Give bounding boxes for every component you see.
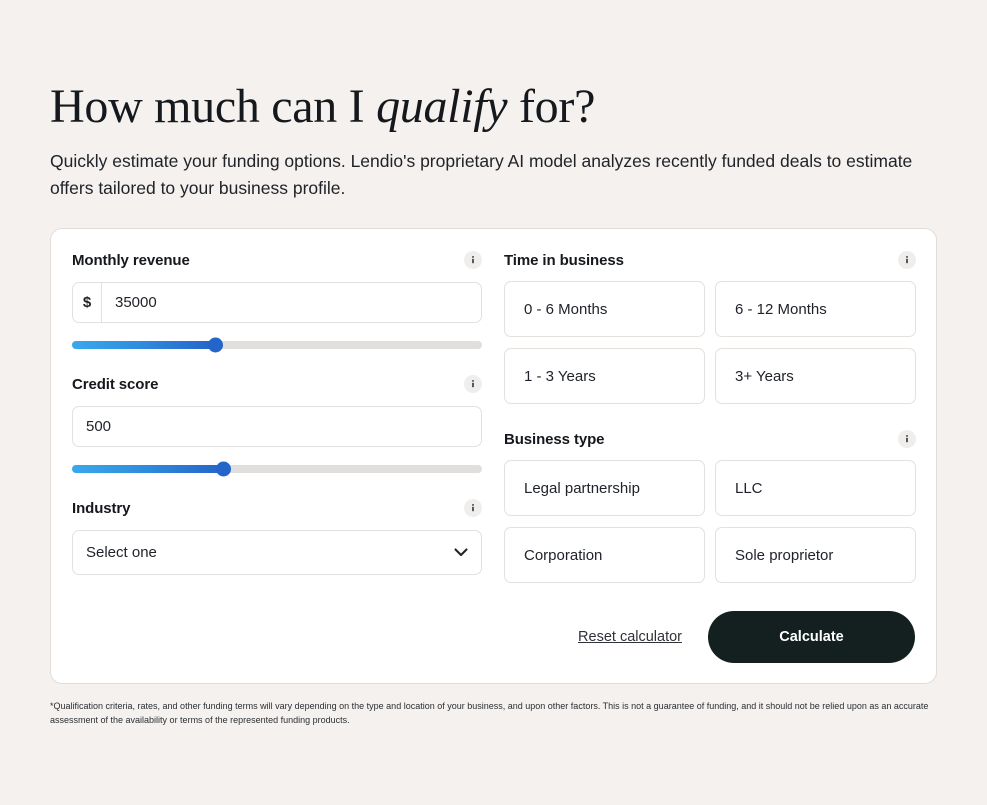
option-business-sole-proprietor[interactable]: Sole proprietor [715, 527, 916, 583]
business-type-label: Business type [504, 431, 604, 448]
credit-score-label-row: Credit score [72, 373, 482, 395]
field-industry: Industry Select one [72, 497, 482, 575]
monthly-revenue-input-wrap[interactable]: $ [72, 282, 482, 323]
info-icon[interactable] [464, 375, 482, 393]
page-subtitle: Quickly estimate your funding options. L… [50, 148, 950, 202]
credit-score-slider[interactable] [72, 465, 482, 473]
field-time-in-business: Time in business 0 - 6 Months 6 - 12 Mon… [504, 249, 916, 404]
monthly-revenue-slider[interactable] [72, 341, 482, 349]
credit-score-input-wrap[interactable] [72, 406, 482, 447]
option-business-llc[interactable]: LLC [715, 460, 916, 516]
calculator-card: Monthly revenue $ [50, 228, 937, 684]
option-time-6-12-months[interactable]: 6 - 12 Months [715, 281, 916, 337]
info-icon[interactable] [898, 430, 916, 448]
chevron-down-icon[interactable] [454, 544, 468, 562]
page-title: How much can I qualify for? [50, 78, 595, 136]
credit-score-slider-fill [72, 465, 224, 473]
business-type-label-row: Business type [504, 428, 916, 450]
reset-calculator-button[interactable]: Reset calculator [578, 629, 682, 645]
business-type-options: Legal partnership LLC Corporation Sole p… [504, 460, 916, 583]
industry-label-row: Industry [72, 497, 482, 519]
calculator-actions: Reset calculator Calculate [578, 611, 915, 663]
field-credit-score: Credit score [72, 373, 482, 473]
credit-score-input[interactable] [73, 407, 481, 446]
field-monthly-revenue: Monthly revenue $ [72, 249, 482, 349]
page-title-emphasis: qualify [376, 80, 507, 133]
qualify-calculator-page: How much can I qualify for? Quickly esti… [0, 0, 987, 805]
time-in-business-options: 0 - 6 Months 6 - 12 Months 1 - 3 Years 3… [504, 281, 916, 404]
field-business-type: Business type Legal partnership LLC Corp… [504, 428, 916, 583]
monthly-revenue-slider-thumb[interactable] [208, 338, 223, 353]
currency-prefix: $ [73, 283, 102, 322]
option-time-3-plus-years[interactable]: 3+ Years [715, 348, 916, 404]
disclaimer-text: *Qualification criteria, rates, and othe… [50, 699, 940, 727]
page-title-after: for? [507, 80, 595, 133]
industry-select[interactable]: Select one [72, 530, 482, 575]
calculator-right-column: Time in business 0 - 6 Months 6 - 12 Mon… [504, 249, 916, 583]
option-time-0-6-months[interactable]: 0 - 6 Months [504, 281, 705, 337]
calculator-left-column: Monthly revenue $ [72, 249, 482, 575]
industry-selected-value: Select one [73, 544, 157, 561]
info-icon[interactable] [464, 499, 482, 517]
credit-score-slider-thumb[interactable] [216, 462, 231, 477]
monthly-revenue-input[interactable] [102, 283, 481, 322]
credit-score-label: Credit score [72, 376, 158, 393]
monthly-revenue-label: Monthly revenue [72, 252, 190, 269]
page-title-before: How much can I [50, 80, 376, 133]
monthly-revenue-label-row: Monthly revenue [72, 249, 482, 271]
info-icon[interactable] [464, 251, 482, 269]
time-in-business-label-row: Time in business [504, 249, 916, 271]
option-business-corporation[interactable]: Corporation [504, 527, 705, 583]
monthly-revenue-slider-fill [72, 341, 216, 349]
calculate-button[interactable]: Calculate [708, 611, 915, 663]
industry-label: Industry [72, 500, 130, 517]
option-business-legal-partnership[interactable]: Legal partnership [504, 460, 705, 516]
info-icon[interactable] [898, 251, 916, 269]
time-in-business-label: Time in business [504, 252, 624, 269]
option-time-1-3-years[interactable]: 1 - 3 Years [504, 348, 705, 404]
